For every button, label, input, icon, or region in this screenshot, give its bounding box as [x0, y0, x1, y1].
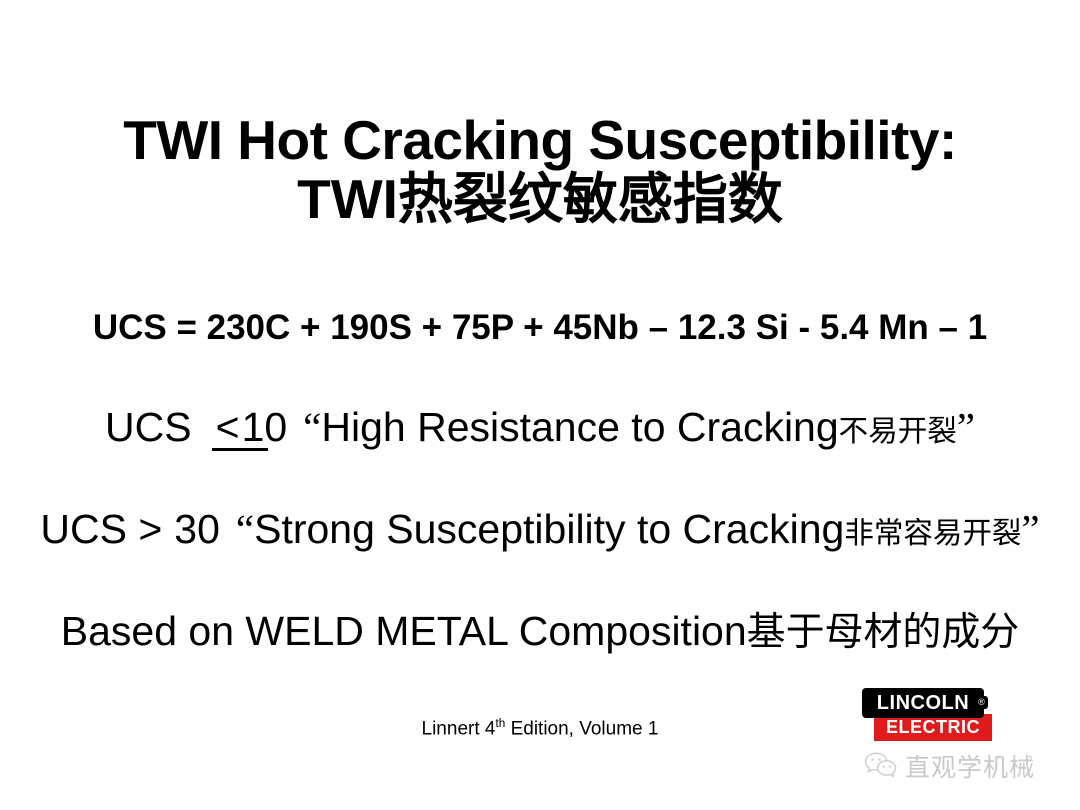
composition-basis-english: Based on WELD METAL Composition	[61, 608, 747, 654]
ucs-low-prefix: UCS	[105, 404, 192, 450]
ucs-high-prefix: UCS >	[40, 506, 162, 552]
ucs-high-phrase-english: Strong Susceptibility to Cracking	[254, 506, 844, 552]
logo-electric-text: ELECTRIC	[886, 717, 980, 738]
registered-trademark-icon: ®	[975, 696, 988, 709]
ucs-low-threshold-line: UCS<10“High Resistance to Cracking不易开裂”	[0, 407, 1080, 448]
ucs-high-threshold-line: UCS >30“Strong Susceptibility to Crackin…	[0, 509, 1080, 550]
citation-author: Linnert	[422, 718, 480, 739]
ucs-low-phrase-chinese: 不易开裂	[839, 414, 957, 448]
composition-basis-chinese: 基于母材的成分	[747, 610, 1020, 655]
citation-edition-word: Edition,	[511, 718, 574, 739]
lincoln-electric-logo: ELECTRIC LINCOLN ®	[862, 688, 1002, 746]
logo-lincoln-bar: LINCOLN	[862, 688, 984, 718]
ucs-low-phrase-english: High Resistance to Cracking	[321, 404, 838, 450]
title-chinese-han: 热裂纹敏感指数	[398, 167, 783, 231]
ucs-high-threshold: 30	[174, 506, 220, 552]
citation-volume: Volume 1	[579, 718, 658, 739]
slide-canvas: TWI Hot Cracking Susceptibility: TWI热裂纹敏…	[0, 0, 1080, 810]
ucs-formula: UCS = 230C + 190S + 75P + 45Nb – 12.3 Si…	[0, 310, 1080, 345]
wechat-icon	[864, 751, 898, 781]
ucs-high-phrase-chinese: 非常容易开裂	[844, 516, 1021, 550]
citation-edition-suffix: th	[495, 717, 505, 730]
composition-basis-line: Based on WELD METAL Composition基于母材的成分	[0, 611, 1080, 653]
title-chinese-latin-prefix: TWI	[297, 168, 398, 230]
wechat-watermark: 直观学机械	[864, 748, 1035, 784]
title-line-chinese: TWI热裂纹敏感指数	[0, 169, 1080, 231]
ucs-high-close-quote: ”	[1021, 506, 1039, 552]
ucs-low-close-quote: ”	[957, 404, 975, 450]
ucs-high-open-quote: “	[236, 506, 254, 552]
citation-edition-number: 4	[485, 718, 496, 739]
title-line-english: TWI Hot Cracking Susceptibility:	[0, 112, 1080, 169]
slide-title: TWI Hot Cracking Susceptibility: TWI热裂纹敏…	[0, 112, 1080, 231]
ucs-low-threshold: 10	[242, 404, 288, 450]
ucs-low-open-quote: “	[303, 404, 321, 450]
slide-body: UCS = 230C + 190S + 75P + 45Nb – 12.3 Si…	[0, 310, 1080, 653]
wechat-account-name: 直观学机械	[905, 748, 1035, 784]
less-than-or-equal-icon: <	[214, 407, 242, 448]
logo-lincoln-text: LINCOLN	[877, 692, 969, 715]
logo-electric-bar: ELECTRIC	[874, 714, 992, 741]
